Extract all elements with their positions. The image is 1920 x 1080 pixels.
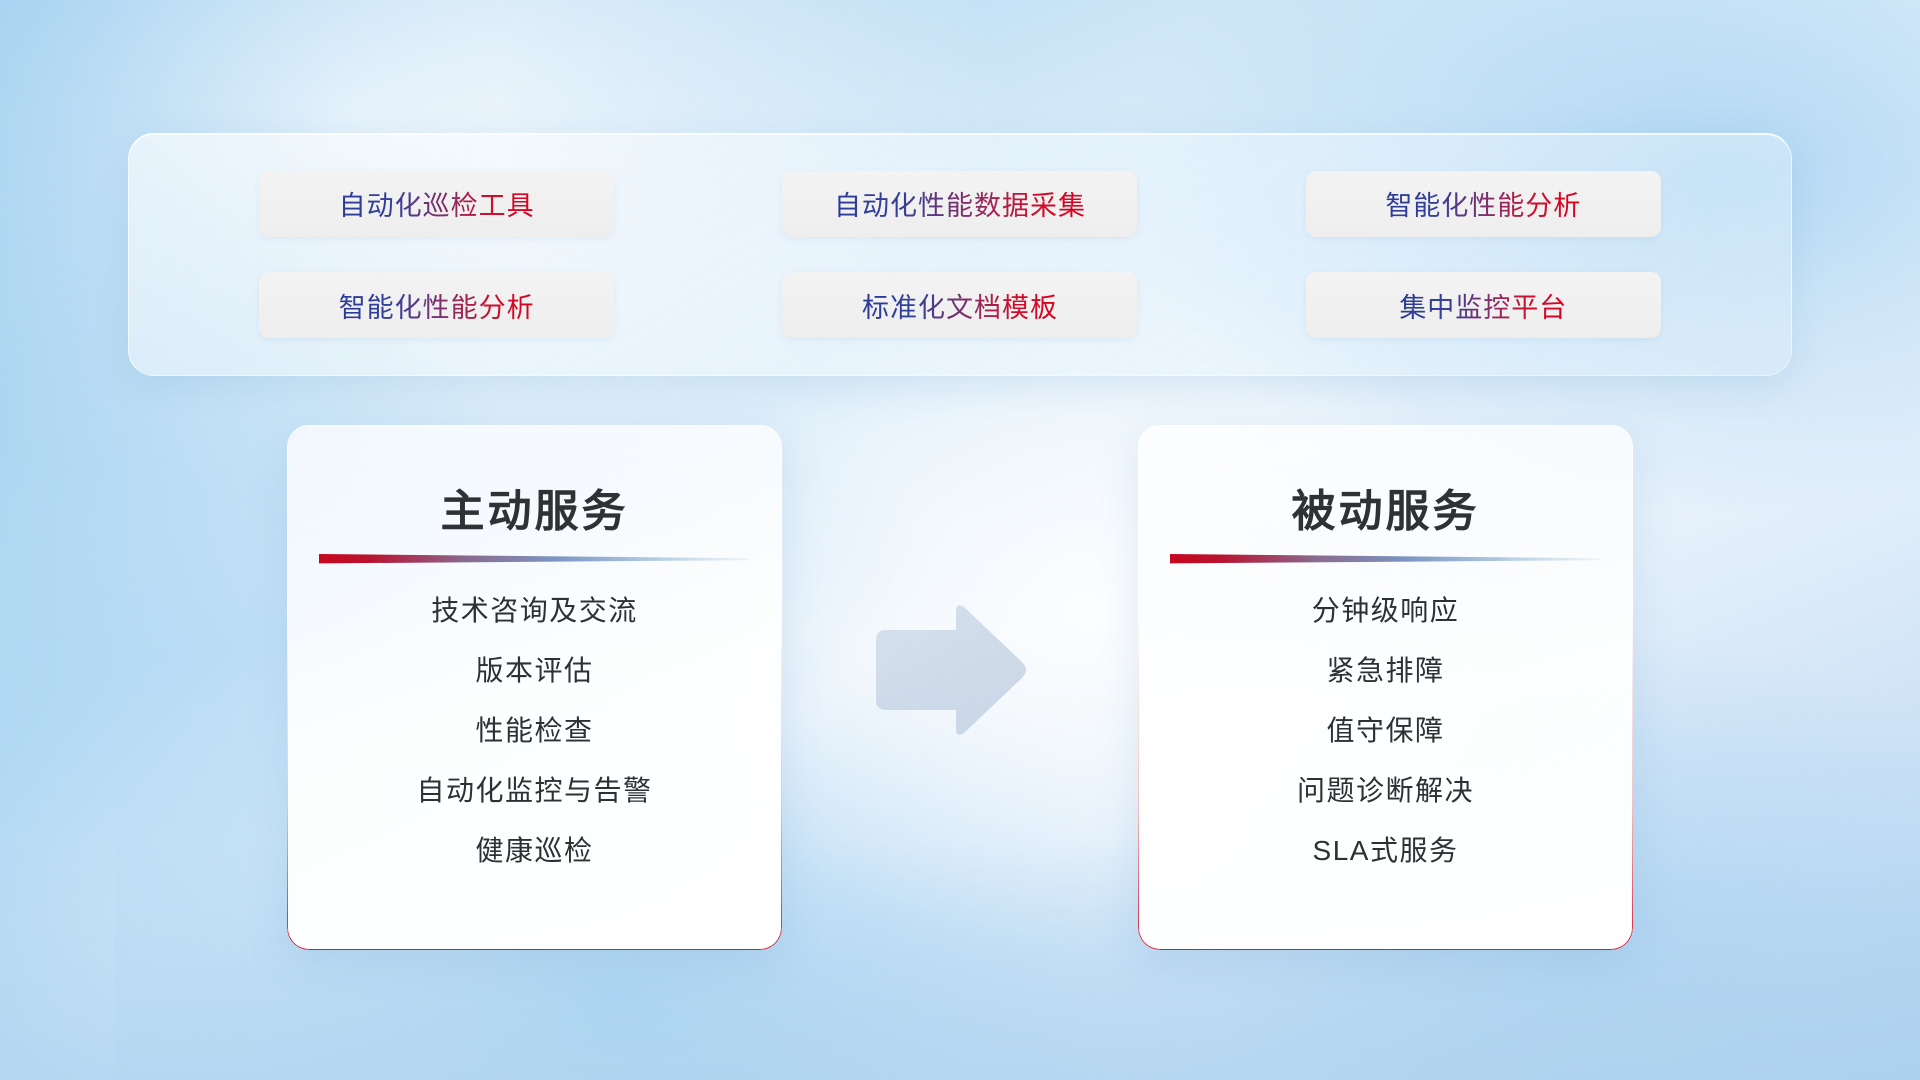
card-list-item: SLA式服务 bbox=[1313, 833, 1459, 868]
capability-pill-label: 智能化性能分析 bbox=[339, 286, 535, 325]
capability-pill-label: 自动化性能数据采集 bbox=[834, 184, 1086, 223]
card-list-item: 版本评估 bbox=[475, 653, 593, 688]
capability-pill[interactable]: 智能化性能分析 bbox=[1306, 171, 1661, 237]
capability-pill-label: 智能化性能分析 bbox=[1385, 184, 1581, 223]
capability-pill[interactable]: 标准化文档模板 bbox=[782, 272, 1137, 338]
capability-pill-grid: 自动化巡检工具 自动化性能数据采集 智能化性能分析 智能化性能分析 标准化文档模… bbox=[129, 134, 1791, 375]
card-list-item: 问题诊断解决 bbox=[1297, 773, 1474, 808]
card-list-item: 健康巡检 bbox=[475, 833, 593, 868]
card-list-item: 性能检查 bbox=[475, 713, 593, 748]
capability-pill[interactable]: 智能化性能分析 bbox=[259, 272, 614, 338]
card-list-item: 值守保障 bbox=[1326, 713, 1444, 748]
card-list-item: 技术咨询及交流 bbox=[431, 593, 638, 628]
capability-pill-panel: 自动化巡检工具 自动化性能数据采集 智能化性能分析 智能化性能分析 标准化文档模… bbox=[128, 133, 1792, 376]
capability-pill[interactable]: 集中监控平台 bbox=[1306, 272, 1661, 338]
service-card-reactive: 被动服务 分钟级响应 紧急排障 值守保障 问题诊断解决 SLA式服务 bbox=[1138, 425, 1633, 950]
card-title-underline bbox=[319, 553, 749, 564]
capability-pill-label: 集中监控平台 bbox=[1399, 286, 1567, 325]
capability-pill[interactable]: 自动化巡检工具 bbox=[259, 171, 614, 237]
capability-pill-label: 标准化文档模板 bbox=[862, 286, 1058, 325]
capability-pill-label: 自动化巡检工具 bbox=[339, 184, 535, 223]
card-title: 被动服务 bbox=[1138, 475, 1633, 539]
card-list-item: 自动化监控与告警 bbox=[416, 773, 652, 808]
card-title: 主动服务 bbox=[287, 475, 782, 539]
card-title-underline bbox=[1170, 553, 1600, 564]
service-card-proactive: 主动服务 技术咨询及交流 版本评估 性能检查 自动化监控与告警 健康巡检 bbox=[287, 425, 782, 950]
card-item-list: 技术咨询及交流 版本评估 性能检查 自动化监控与告警 健康巡检 bbox=[287, 593, 782, 868]
card-item-list: 分钟级响应 紧急排障 值守保障 问题诊断解决 SLA式服务 bbox=[1138, 593, 1633, 868]
card-list-item: 分钟级响应 bbox=[1312, 593, 1460, 628]
card-list-item: 紧急排障 bbox=[1326, 653, 1444, 688]
arrow-right-icon bbox=[870, 600, 1030, 740]
capability-pill[interactable]: 自动化性能数据采集 bbox=[782, 171, 1137, 237]
